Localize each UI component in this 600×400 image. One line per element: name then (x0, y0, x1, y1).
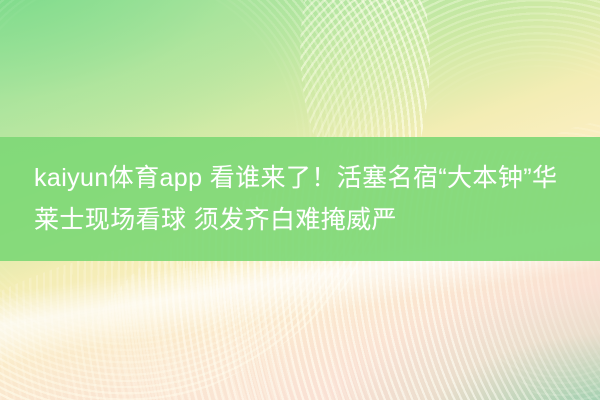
caption-band: kaiyun体育app 看谁来了！活塞名宿“大本钟”华莱士现场看球 须发齐白难掩… (0, 137, 600, 261)
caption-text: kaiyun体育app 看谁来了！活塞名宿“大本钟”华莱士现场看球 须发齐白难掩… (0, 157, 600, 241)
promo-banner: kaiyun体育app 看谁来了！活塞名宿“大本钟”华莱士现场看球 须发齐白难掩… (0, 0, 600, 400)
